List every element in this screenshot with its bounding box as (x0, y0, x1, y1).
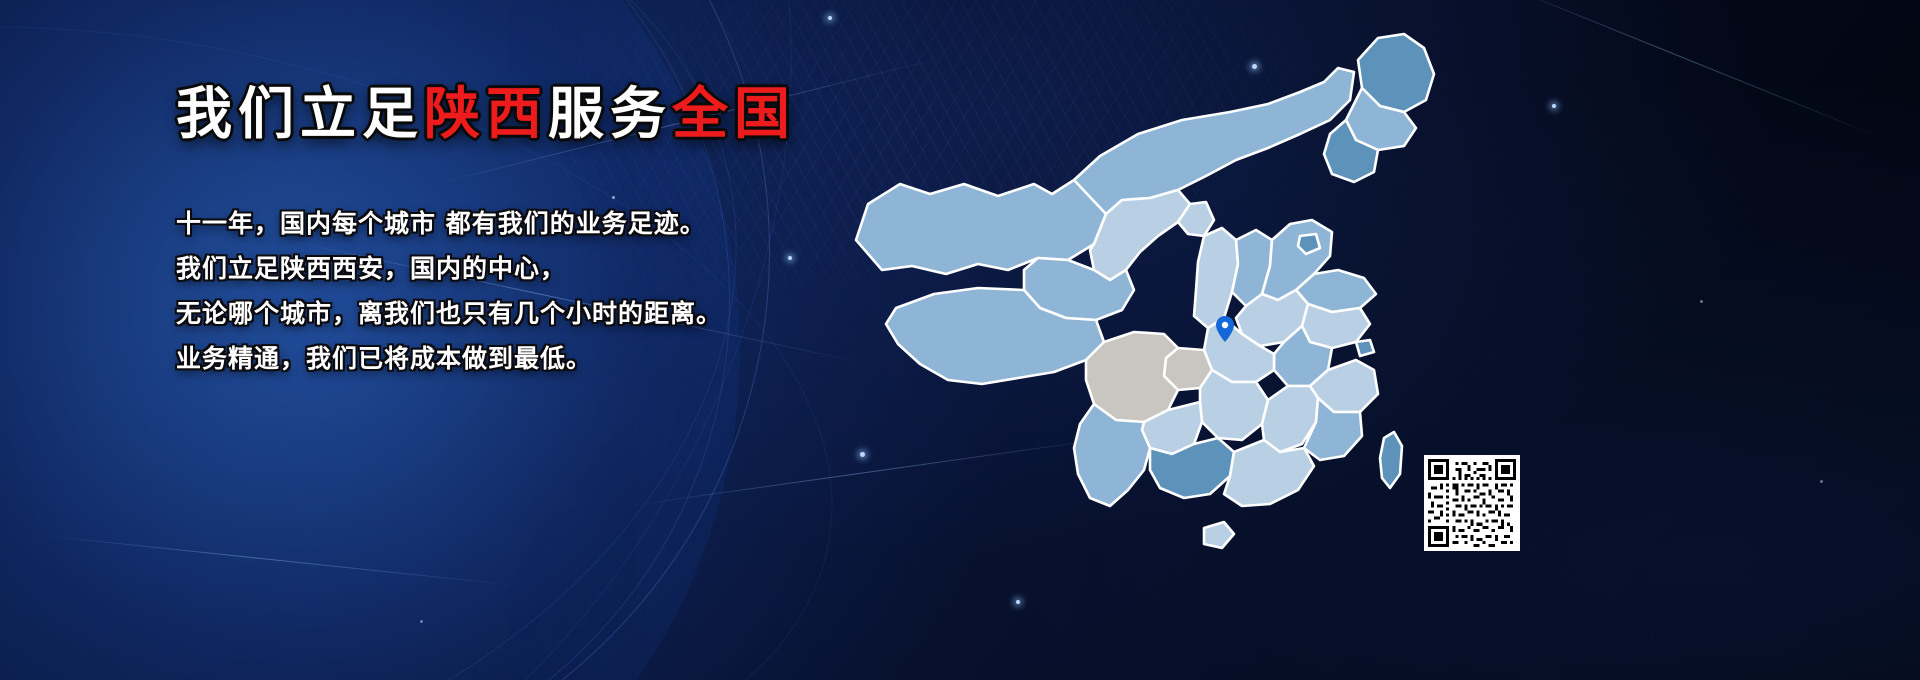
light-streak-5 (1495, 0, 1885, 140)
star-dot (828, 16, 832, 20)
qr-code[interactable] (1424, 455, 1520, 551)
promo-banner: 我们立足陕西服务全国 十一年，国内每个城市 都有我们的业务足迹。 我们立足陕西西… (0, 0, 1920, 680)
headline-segment-2: 陕西 (424, 82, 548, 147)
star-dot (1820, 480, 1823, 483)
star-dot (1700, 300, 1703, 303)
china-map (838, 8, 1498, 568)
headline-segment-1: 我们立足 (176, 82, 424, 147)
headline-segment-3: 服务 (548, 82, 672, 147)
star-dot (420, 620, 423, 623)
headline-segment-4: 全国 (672, 82, 796, 147)
star-dot (1016, 600, 1020, 604)
star-dot (1552, 104, 1556, 108)
xian-location-pin[interactable] (1216, 316, 1234, 342)
